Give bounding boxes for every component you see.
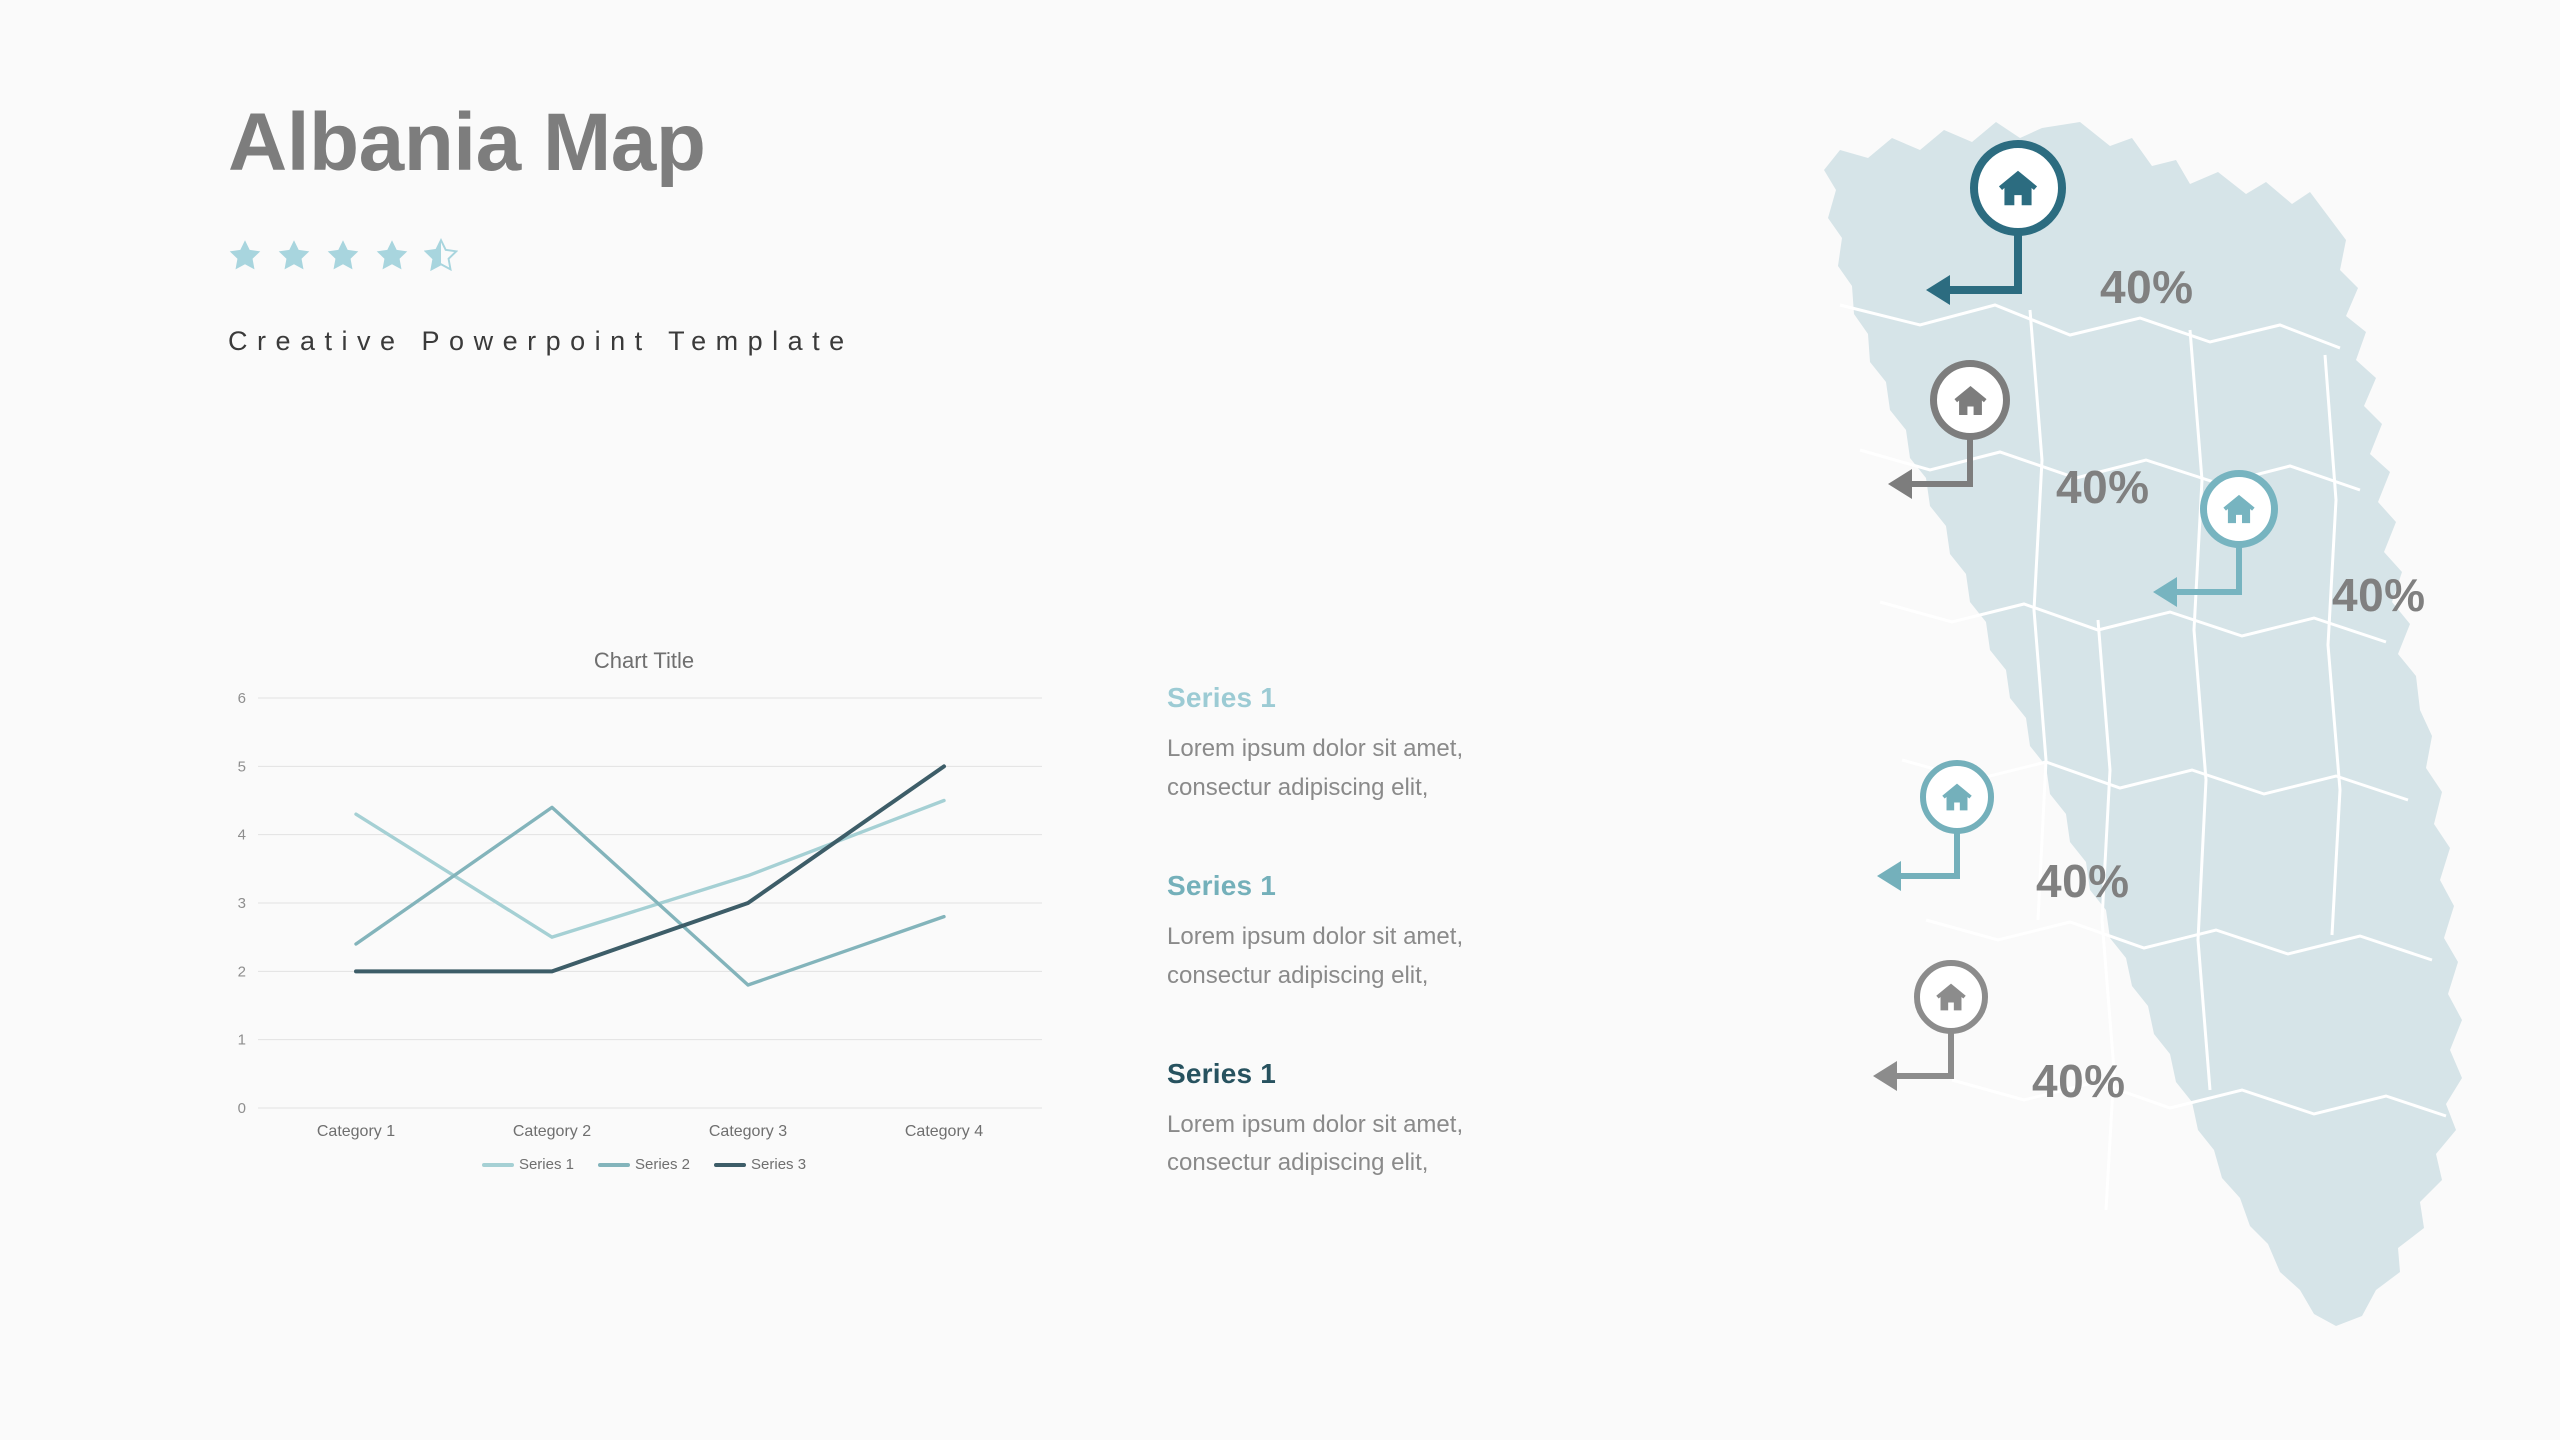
legend-swatch-icon [714, 1163, 746, 1167]
map-marker-northwest[interactable]: 40% [1930, 360, 2150, 514]
map-marker-circle[interactable] [1920, 760, 1994, 834]
star-filled-icon [326, 238, 360, 271]
page-title: Albania Map [228, 100, 1328, 186]
rating-stars [228, 234, 1328, 274]
chart-x-tick-label: Category 1 [317, 1123, 395, 1140]
map-marker-north[interactable]: 40% [1970, 140, 2194, 314]
series-body-line: Lorem ipsum dolor sit amet, [1167, 735, 1463, 762]
star-filled-icon [375, 238, 409, 271]
series-body-line: consectur adipiscing elit, [1167, 962, 1428, 989]
map-marker-arrow-icon [1926, 232, 2044, 314]
map-marker-graphic [1930, 360, 2010, 440]
map-marker-east[interactable]: 40% [2200, 470, 2426, 622]
series-body-line: Lorem ipsum dolor sit amet, [1167, 923, 1463, 950]
chart-legend-item-2[interactable]: Series 2 [598, 1156, 690, 1173]
series-description-block-1: Series 1Lorem ipsum dolor sit amet,conse… [1167, 682, 1647, 808]
chart-y-tick-label: 4 [238, 827, 246, 844]
chart-legend-label: Series 3 [751, 1156, 806, 1173]
chart-x-tick-label: Category 4 [905, 1123, 983, 1140]
chart-x-tick-label: Category 2 [513, 1123, 591, 1140]
map-marker-circle[interactable] [1930, 360, 2010, 440]
series-description-block-2: Series 1Lorem ipsum dolor sit amet,conse… [1167, 870, 1647, 996]
map-marker-graphic [1920, 760, 1994, 834]
series-body-text: Lorem ipsum dolor sit amet,consectur adi… [1167, 1106, 1647, 1184]
chart-series-line-1 [356, 801, 944, 938]
title-block: Albania Map Creative Powerpoint Template [228, 100, 1328, 357]
series-body-text: Lorem ipsum dolor sit amet,consectur adi… [1167, 918, 1647, 996]
chart-x-tick-label: Category 3 [709, 1123, 787, 1140]
map-marker-south[interactable]: 40% [1914, 960, 2126, 1108]
home-icon [2221, 491, 2257, 527]
map-marker-percent-label: 40% [2332, 568, 2426, 622]
chart-legend-item-3[interactable]: Series 3 [714, 1156, 806, 1173]
chart-y-tick-label: 1 [238, 1032, 246, 1049]
home-icon [1940, 780, 1974, 814]
map-marker-southcentral[interactable]: 40% [1920, 760, 2130, 908]
chart-y-tick-label: 3 [238, 895, 246, 912]
series-body-text: Lorem ipsum dolor sit amet,consectur adi… [1167, 730, 1647, 808]
star-filled-icon [277, 238, 311, 271]
albania-map-panel: 40%40%40%40%40% [1780, 120, 2540, 1340]
chart-svg: 0123456Category 1Category 2Category 3Cat… [210, 684, 1060, 1154]
chart-legend: Series 1Series 2Series 3 [210, 1156, 1060, 1173]
map-marker-circle[interactable] [2200, 470, 2278, 548]
series-description-block-3: Series 1Lorem ipsum dolor sit amet,conse… [1167, 1058, 1647, 1184]
home-icon [1996, 166, 2040, 210]
map-marker-graphic [1970, 140, 2066, 236]
series-body-line: consectur adipiscing elit, [1167, 1149, 1428, 1176]
map-marker-graphic [2200, 470, 2278, 548]
series-heading: Series 1 [1167, 1058, 1647, 1090]
map-marker-percent-label: 40% [2056, 460, 2150, 514]
map-marker-arrow-icon [2153, 544, 2265, 616]
map-marker-percent-label: 40% [2100, 260, 2194, 314]
chart-legend-item-1[interactable]: Series 1 [482, 1156, 574, 1173]
map-marker-percent-label: 40% [2036, 854, 2130, 908]
map-marker-graphic [1914, 960, 1988, 1034]
map-marker-circle[interactable] [1970, 140, 2066, 236]
chart-legend-label: Series 1 [519, 1156, 574, 1173]
legend-swatch-icon [598, 1163, 630, 1167]
chart-y-tick-label: 6 [238, 690, 246, 707]
chart-y-tick-label: 5 [238, 758, 246, 775]
home-icon [1934, 980, 1968, 1014]
chart-y-tick-label: 0 [238, 1100, 246, 1117]
star-filled-icon [228, 238, 262, 271]
chart-plot-area: 0123456Category 1Category 2Category 3Cat… [210, 684, 1060, 1154]
map-marker-arrow-icon [1877, 830, 1983, 900]
home-icon [1952, 382, 1989, 419]
series-body-line: consectur adipiscing elit, [1167, 774, 1428, 801]
series-heading: Series 1 [1167, 870, 1647, 902]
chart-legend-label: Series 2 [635, 1156, 690, 1173]
map-marker-percent-label: 40% [2032, 1054, 2126, 1108]
page-subtitle: Creative Powerpoint Template [228, 326, 1328, 357]
star-half-icon [424, 238, 458, 271]
map-marker-arrow-icon [1873, 1030, 1977, 1100]
legend-swatch-icon [482, 1163, 514, 1167]
series-description-list: Series 1Lorem ipsum dolor sit amet,conse… [1167, 682, 1647, 1183]
map-marker-arrow-icon [1888, 436, 1996, 508]
series-body-line: Lorem ipsum dolor sit amet, [1167, 1111, 1463, 1138]
chart-y-tick-label: 2 [238, 963, 246, 980]
map-marker-circle[interactable] [1914, 960, 1988, 1034]
chart-title: Chart Title [210, 648, 1060, 674]
series-heading: Series 1 [1167, 682, 1647, 714]
line-chart-panel: Chart Title 0123456Category 1Category 2C… [210, 648, 1060, 1208]
